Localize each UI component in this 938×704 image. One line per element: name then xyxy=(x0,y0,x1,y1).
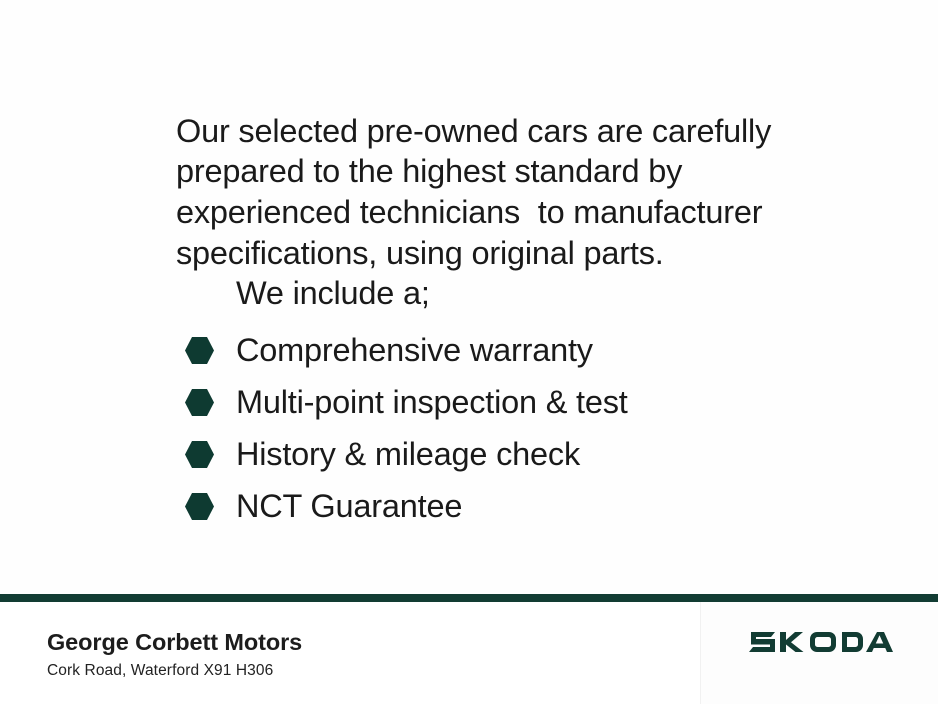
list-item-label: Comprehensive warranty xyxy=(236,333,593,367)
list-item: Comprehensive warranty xyxy=(184,324,824,376)
skoda-wordmark-logo xyxy=(749,628,893,656)
brand-logo-panel xyxy=(700,602,938,704)
intro-paragraph: Our selected pre-owned cars are carefull… xyxy=(176,111,796,274)
list-item: NCT Guarantee xyxy=(184,480,824,532)
hexagon-bullet-icon xyxy=(184,388,215,417)
promo-slide: Our selected pre-owned cars are carefull… xyxy=(0,0,938,704)
hexagon-bullet-icon xyxy=(184,336,215,365)
hexagon-bullet-icon xyxy=(184,492,215,521)
footer-bar: George Corbett Motors Cork Road, Waterfo… xyxy=(0,602,938,704)
hexagon-bullet-icon xyxy=(184,440,215,469)
list-item-label: NCT Guarantee xyxy=(236,489,462,523)
inclusions-list: Comprehensive warranty Multi-point inspe… xyxy=(184,324,824,532)
list-item-label: History & mileage check xyxy=(236,437,580,471)
include-lead-text: We include a; xyxy=(236,273,430,313)
footer-divider-rule xyxy=(0,594,938,602)
list-item: History & mileage check xyxy=(184,428,824,480)
dealer-name: George Corbett Motors xyxy=(47,628,302,656)
list-item: Multi-point inspection & test xyxy=(184,376,824,428)
dealer-address: Cork Road, Waterford X91 H306 xyxy=(47,661,273,680)
list-item-label: Multi-point inspection & test xyxy=(236,385,628,419)
